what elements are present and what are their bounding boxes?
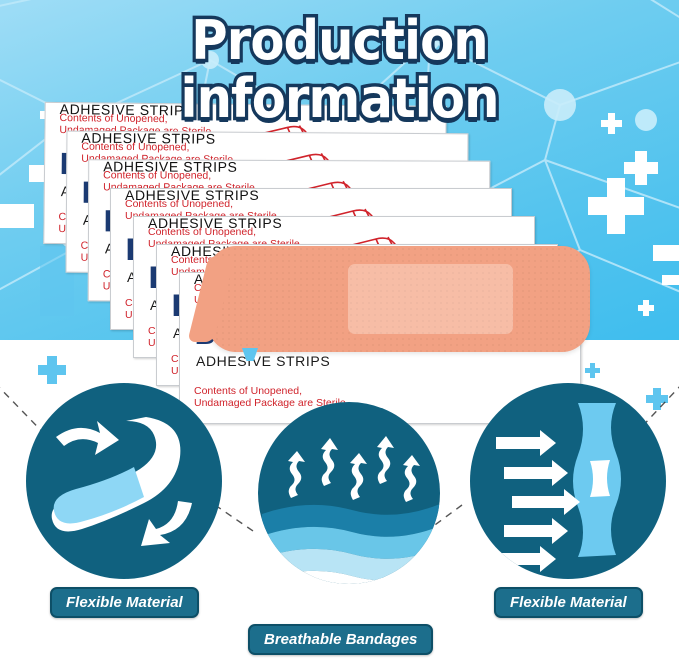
bandage-pad — [348, 264, 513, 334]
feature-breathable-bandages[interactable]: Breathable Bandages — [248, 402, 444, 650]
feature-label: Breathable Bandages — [248, 624, 433, 655]
air-arrows-strip-icon — [470, 383, 666, 579]
feature-flexible-material-right[interactable]: Flexible Material — [456, 383, 668, 615]
vapor-waves-fabric-icon — [258, 402, 440, 584]
page-title-text: Production information — [27, 12, 652, 128]
feature-circle — [470, 383, 666, 579]
feature-flexible-material-left[interactable]: Flexible Material — [26, 383, 238, 615]
twisting-bandage-arrows-icon — [26, 383, 222, 579]
infographic-root: Production information ADHESIVE STRIPS C… — [0, 0, 679, 665]
feature-label: Flexible Material — [494, 587, 643, 618]
page-title: Production information — [0, 12, 679, 74]
feature-circle — [26, 383, 222, 579]
package-subtitle: ADHESIVE STRIPS — [196, 353, 330, 369]
feature-label: Flexible Material — [50, 587, 199, 618]
bandage-product — [208, 246, 590, 352]
feature-circle — [258, 402, 440, 584]
